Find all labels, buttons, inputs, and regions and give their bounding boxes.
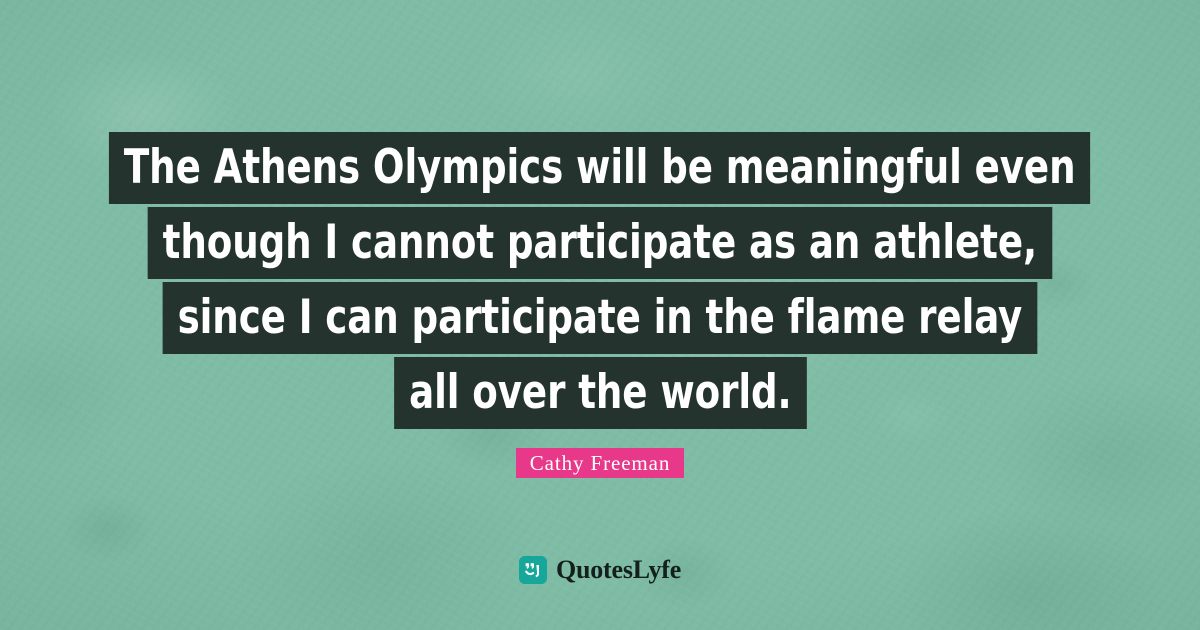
quote-poster: The Athens Olympics will be meaningful e… (0, 0, 1200, 630)
quote-line: The Athens Olympics will be meaningful e… (0, 132, 1200, 204)
quote-line-text: though I cannot participate as an athlet… (148, 207, 1052, 279)
quote-line-text: The Athens Olympics will be meaningful e… (109, 132, 1091, 204)
quote-line: though I cannot participate as an athlet… (0, 207, 1200, 279)
quote-line: all over the world. (0, 357, 1200, 429)
author-attribution: Cathy Freeman (0, 448, 1200, 478)
quote-line: since I can participate in the flame rel… (0, 282, 1200, 354)
quote-text-block: The Athens Olympics will be meaningful e… (0, 132, 1200, 429)
quote-line-text: all over the world. (394, 357, 806, 429)
quote-line-text: since I can participate in the flame rel… (163, 282, 1037, 354)
brand-name: QuotesLyfe (556, 556, 681, 584)
author-name: Cathy Freeman (516, 448, 685, 478)
quote-smiley-icon (519, 556, 547, 584)
brand-logo[interactable]: QuotesLyfe (0, 556, 1200, 584)
